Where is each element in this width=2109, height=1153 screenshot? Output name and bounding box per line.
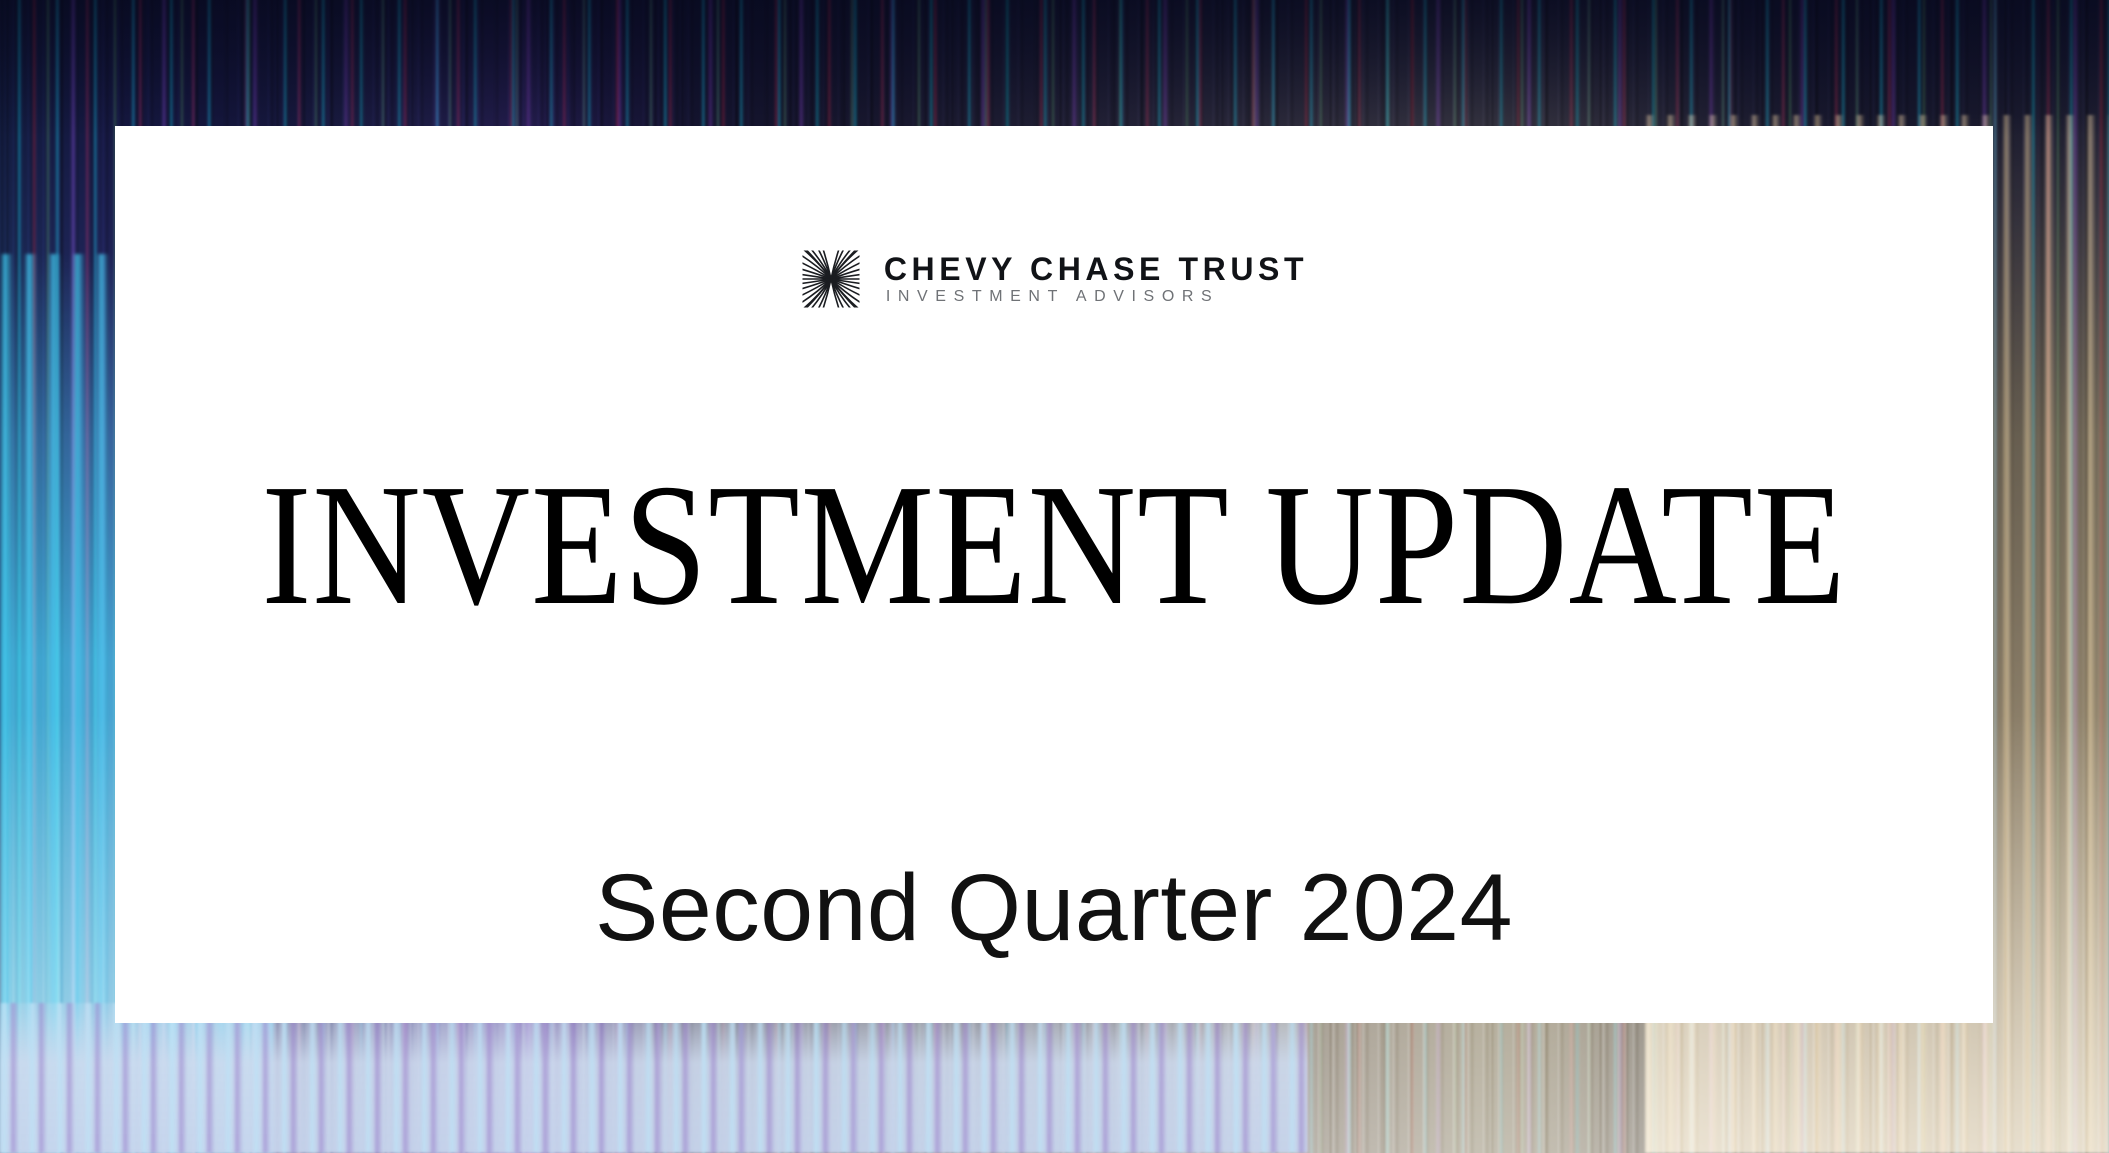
slide-headline: INVESTMENT UPDATE <box>261 458 1846 632</box>
brand-logo-lockup: CHEVY CHASE TRUST INVESTMENT ADVISORS <box>800 248 1308 310</box>
brand-name: CHEVY CHASE TRUST <box>884 253 1308 285</box>
brand-wordmark: CHEVY CHASE TRUST INVESTMENT ADVISORS <box>884 253 1308 305</box>
background-pastel-band <box>0 1003 1308 1153</box>
chevy-chase-trust-pinwheel-mark-icon <box>800 248 862 310</box>
background-top-shade <box>0 0 2109 138</box>
slide-subtitle: Second Quarter 2024 <box>595 861 1513 956</box>
brand-tagline: INVESTMENT ADVISORS <box>884 289 1308 305</box>
title-slide: CHEVY CHASE TRUST INVESTMENT ADVISORS IN… <box>0 0 2109 1153</box>
content-card: CHEVY CHASE TRUST INVESTMENT ADVISORS IN… <box>115 126 1993 1023</box>
